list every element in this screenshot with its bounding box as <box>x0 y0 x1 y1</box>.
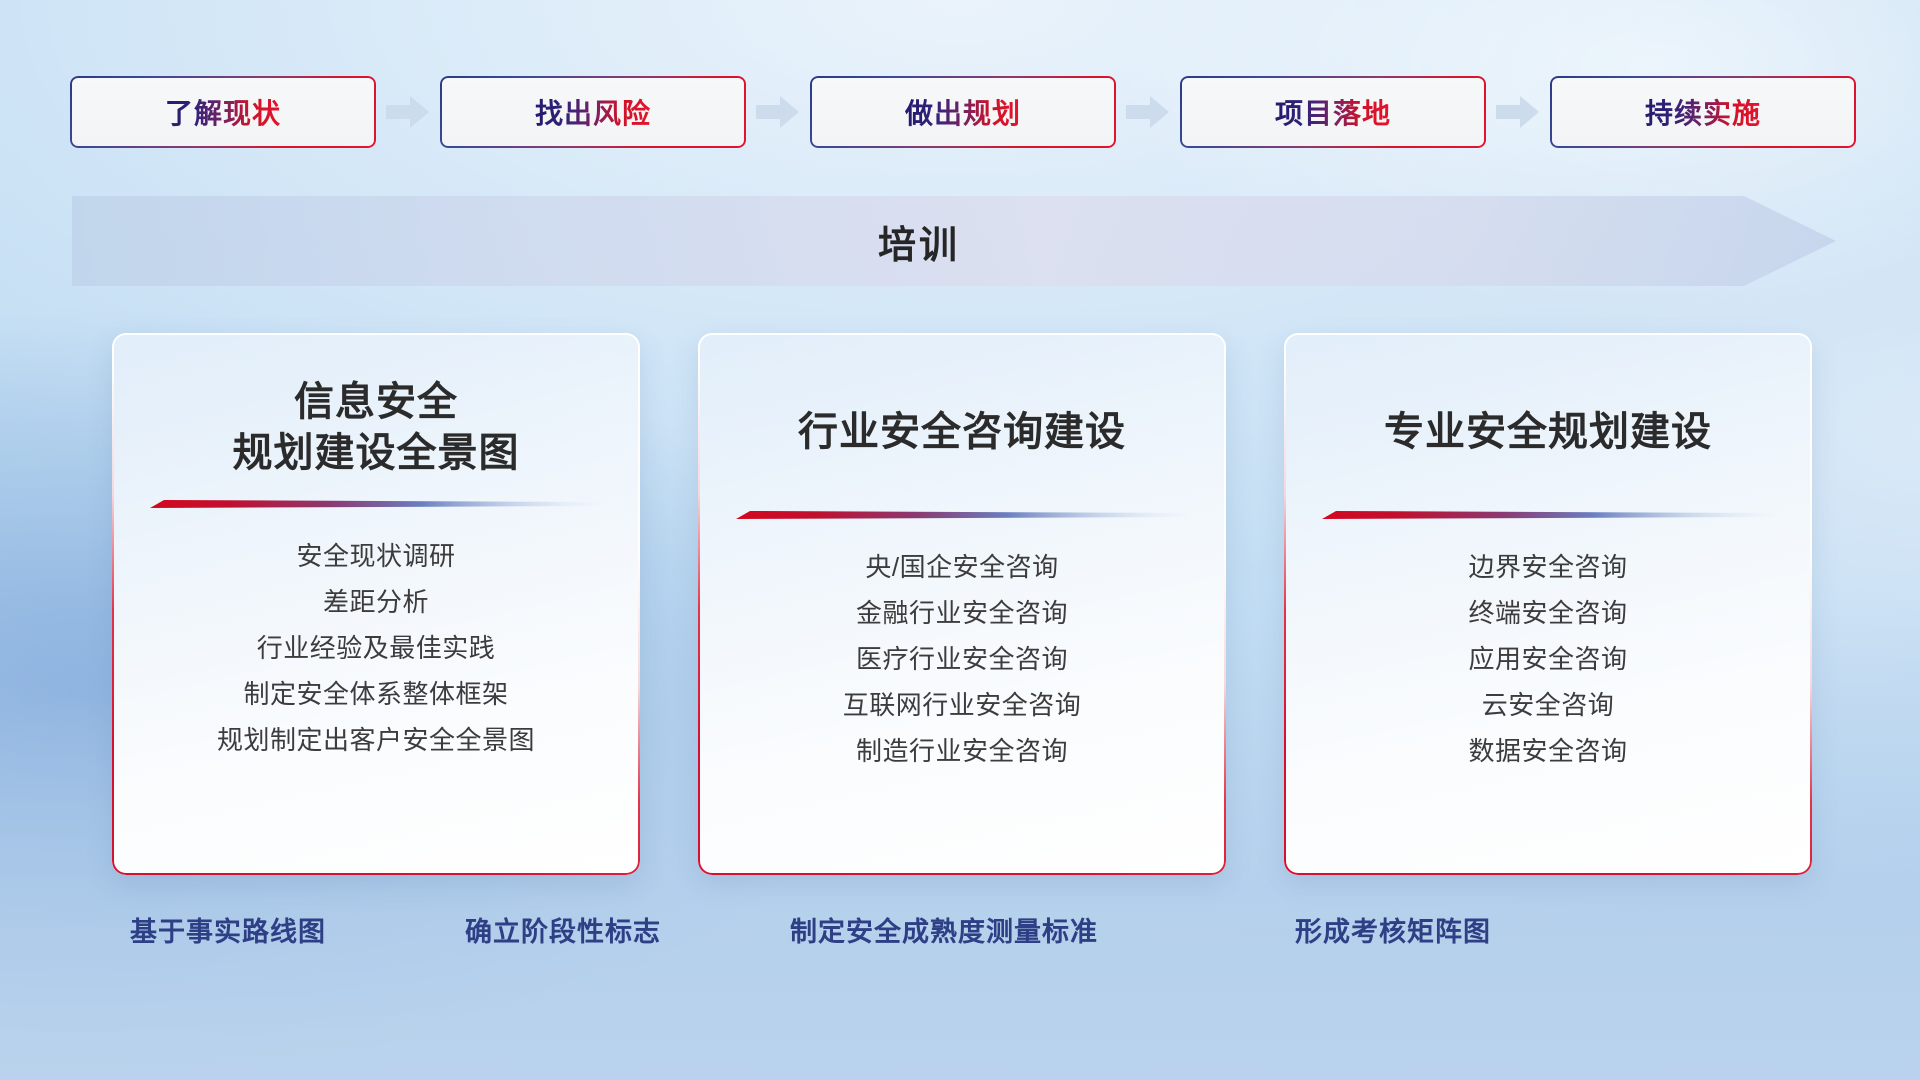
arrow-right-icon <box>746 95 810 129</box>
banner-title: 培训 <box>72 196 1766 286</box>
arrow-right-icon <box>1486 95 1550 129</box>
service-card-3[interactable]: 专业安全规划建设边界安全咨询终端安全咨询应用安全咨询云安全咨询数据安全咨询 <box>1284 333 1812 875</box>
list-item: 边界安全咨询 <box>1284 544 1812 590</box>
list-item: 制定安全体系整体框架 <box>112 671 640 717</box>
training-banner: 培训 <box>72 196 1836 286</box>
cards-row: 信息安全 规划建设全景图安全现状调研差距分析行业经验及最佳实践制定安全体系整体框… <box>112 333 1812 875</box>
process-step-flow: 了解现状找出风险做出规划项目落地持续实施 <box>70 76 1856 148</box>
list-item: 规划制定出客户安全全景图 <box>112 717 640 763</box>
step-label: 做出规划 <box>905 92 1021 132</box>
footer-label-1: 基于事实路线图 <box>130 910 326 949</box>
card-divider-accent <box>150 497 602 511</box>
step-box-4[interactable]: 项目落地 <box>1180 76 1486 148</box>
card-item-list: 安全现状调研差距分析行业经验及最佳实践制定安全体系整体框架规划制定出客户安全全景… <box>112 533 640 763</box>
footer-label-2: 确立阶段性标志 <box>465 910 661 949</box>
card-divider-accent <box>1322 508 1774 522</box>
footer-label-3: 制定安全成熟度测量标准 <box>790 910 1098 949</box>
list-item: 数据安全咨询 <box>1284 728 1812 774</box>
card-inner: 专业安全规划建设边界安全咨询终端安全咨询应用安全咨询云安全咨询数据安全咨询 <box>1284 333 1812 875</box>
service-card-1[interactable]: 信息安全 规划建设全景图安全现状调研差距分析行业经验及最佳实践制定安全体系整体框… <box>112 333 640 875</box>
step-label: 项目落地 <box>1275 92 1391 132</box>
card-title: 专业安全规划建设 <box>1384 377 1712 458</box>
list-item: 终端安全咨询 <box>1284 590 1812 636</box>
card-divider-accent <box>736 508 1188 522</box>
list-item: 金融行业安全咨询 <box>698 590 1226 636</box>
list-item: 制造行业安全咨询 <box>698 728 1226 774</box>
card-inner: 信息安全 规划建设全景图安全现状调研差距分析行业经验及最佳实践制定安全体系整体框… <box>112 333 640 875</box>
step-label: 了解现状 <box>165 92 281 132</box>
list-item: 应用安全咨询 <box>1284 636 1812 682</box>
card-title: 行业安全咨询建设 <box>798 377 1126 458</box>
card-item-list: 边界安全咨询终端安全咨询应用安全咨询云安全咨询数据安全咨询 <box>1284 544 1812 774</box>
card-title: 信息安全 规划建设全景图 <box>233 377 520 479</box>
list-item: 医疗行业安全咨询 <box>698 636 1226 682</box>
footer-label-row: 基于事实路线图确立阶段性标志制定安全成熟度测量标准形成考核矩阵图 <box>0 910 1920 966</box>
step-label: 持续实施 <box>1645 92 1761 132</box>
card-inner: 行业安全咨询建设央/国企安全咨询金融行业安全咨询医疗行业安全咨询互联网行业安全咨… <box>698 333 1226 875</box>
list-item: 安全现状调研 <box>112 533 640 579</box>
list-item: 央/国企安全咨询 <box>698 544 1226 590</box>
step-label: 找出风险 <box>535 92 651 132</box>
step-box-5[interactable]: 持续实施 <box>1550 76 1856 148</box>
arrow-right-icon <box>1116 95 1180 129</box>
list-item: 互联网行业安全咨询 <box>698 682 1226 728</box>
footer-label-4: 形成考核矩阵图 <box>1295 910 1491 949</box>
arrow-right-icon <box>376 95 440 129</box>
card-item-list: 央/国企安全咨询金融行业安全咨询医疗行业安全咨询互联网行业安全咨询制造行业安全咨… <box>698 544 1226 774</box>
service-card-2[interactable]: 行业安全咨询建设央/国企安全咨询金融行业安全咨询医疗行业安全咨询互联网行业安全咨… <box>698 333 1226 875</box>
step-box-2[interactable]: 找出风险 <box>440 76 746 148</box>
list-item: 行业经验及最佳实践 <box>112 625 640 671</box>
list-item: 云安全咨询 <box>1284 682 1812 728</box>
list-item: 差距分析 <box>112 579 640 625</box>
step-box-1[interactable]: 了解现状 <box>70 76 376 148</box>
step-box-3[interactable]: 做出规划 <box>810 76 1116 148</box>
